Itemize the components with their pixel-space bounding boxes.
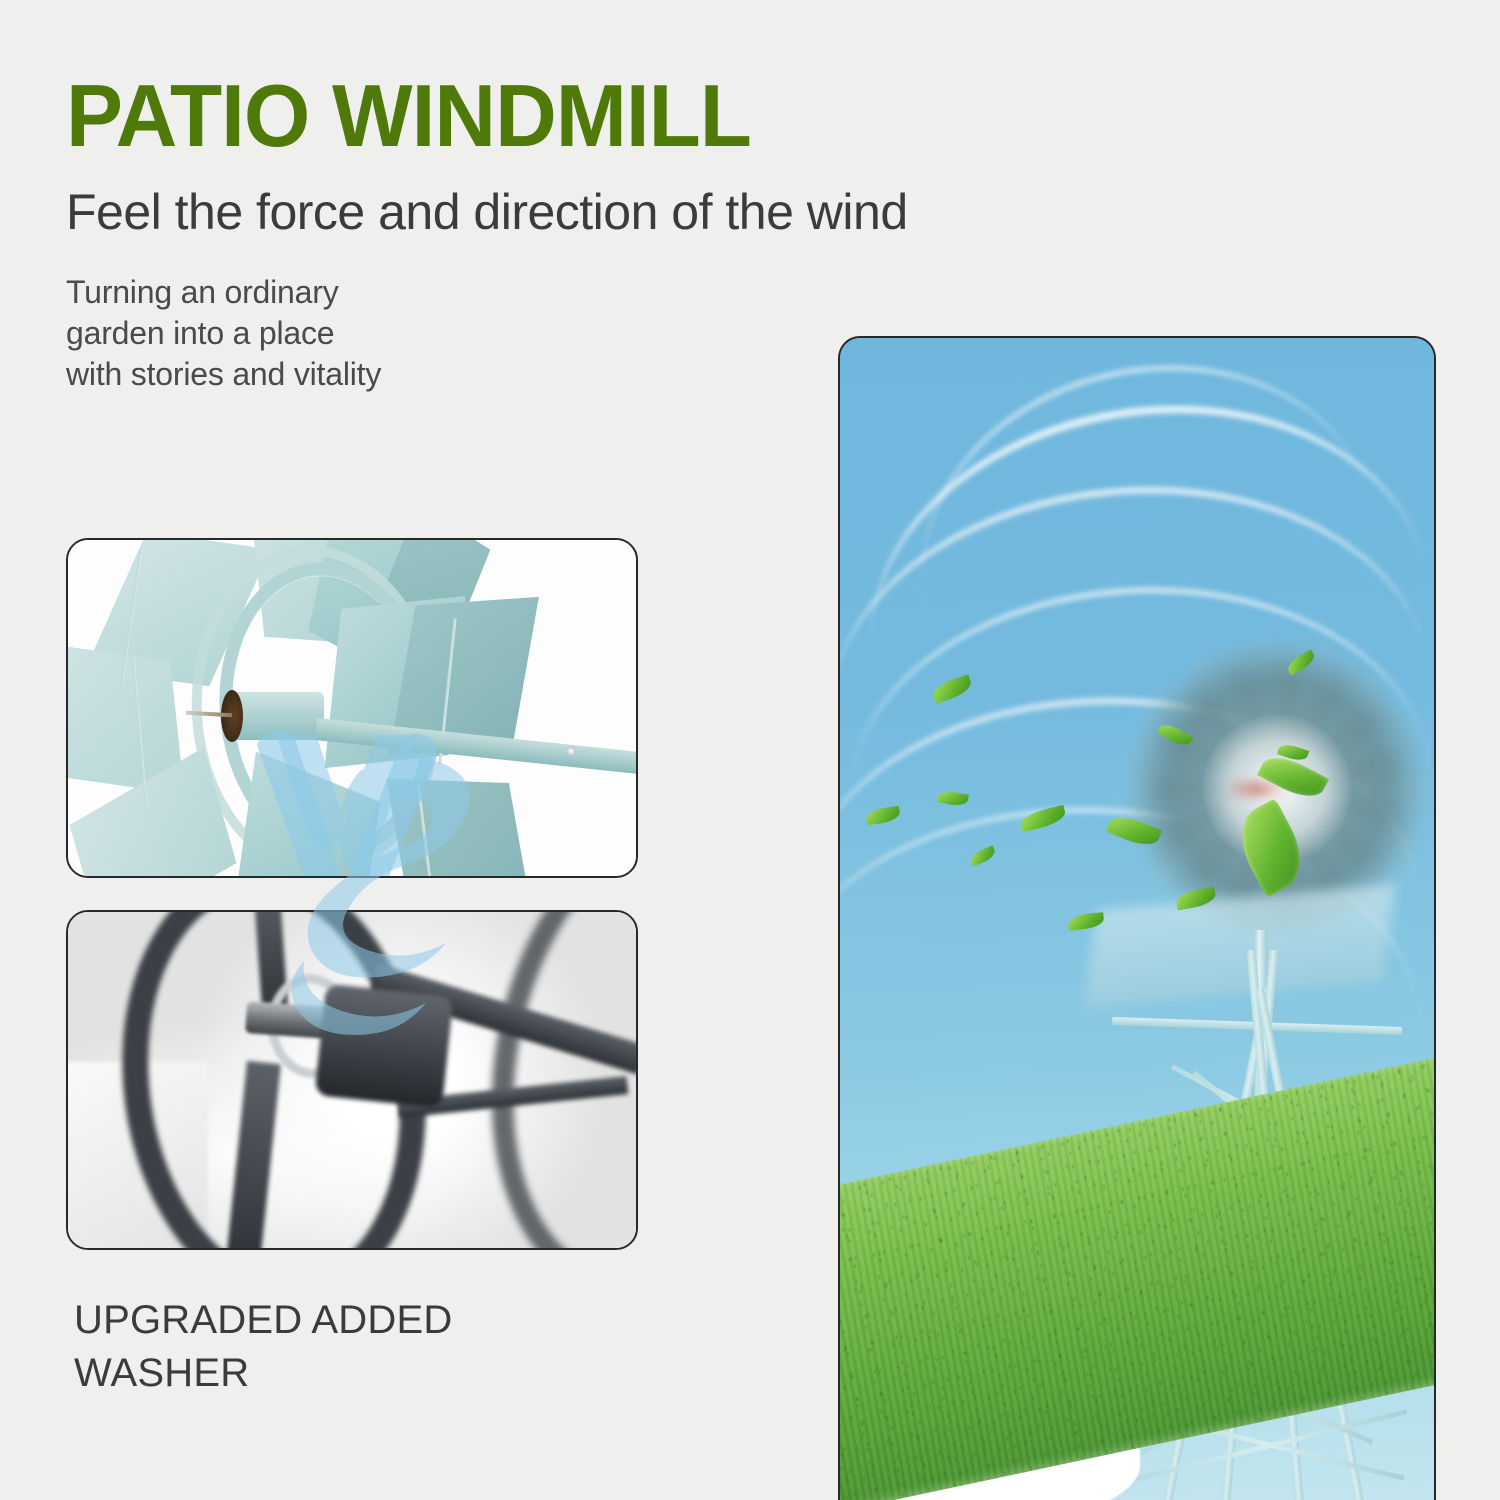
hero-windmill-panel	[838, 336, 1436, 1500]
blurb-line-1: Turning an ordinary	[66, 272, 381, 313]
washer-scene	[68, 912, 636, 1248]
page-blurb: Turning an ordinary garden into a place …	[66, 272, 381, 395]
page-subtitle: Feel the force and direction of the wind	[66, 186, 908, 239]
caption-line-1: UPGRADED ADDED	[74, 1294, 452, 1347]
rotor-blade	[386, 779, 529, 878]
page-title: PATIO WINDMILL	[66, 74, 751, 158]
feature-caption: UPGRADED ADDED WASHER	[74, 1294, 452, 1400]
windmill-hub-closeup-panel	[66, 538, 638, 878]
washer-closeup-panel	[66, 910, 638, 1250]
product-feature-page: PATIO WINDMILL Feel the force and direct…	[0, 0, 1500, 1500]
blurb-line-2: garden into a place	[66, 313, 381, 354]
hub-scene	[68, 540, 636, 876]
arm-bolt	[566, 746, 576, 756]
blurb-line-3: with stories and vitality	[66, 354, 381, 395]
axle-shaft	[245, 1001, 333, 1039]
hero-scene	[840, 338, 1434, 1500]
hub-sleeve	[314, 984, 453, 1109]
caption-line-2: WASHER	[74, 1347, 452, 1400]
